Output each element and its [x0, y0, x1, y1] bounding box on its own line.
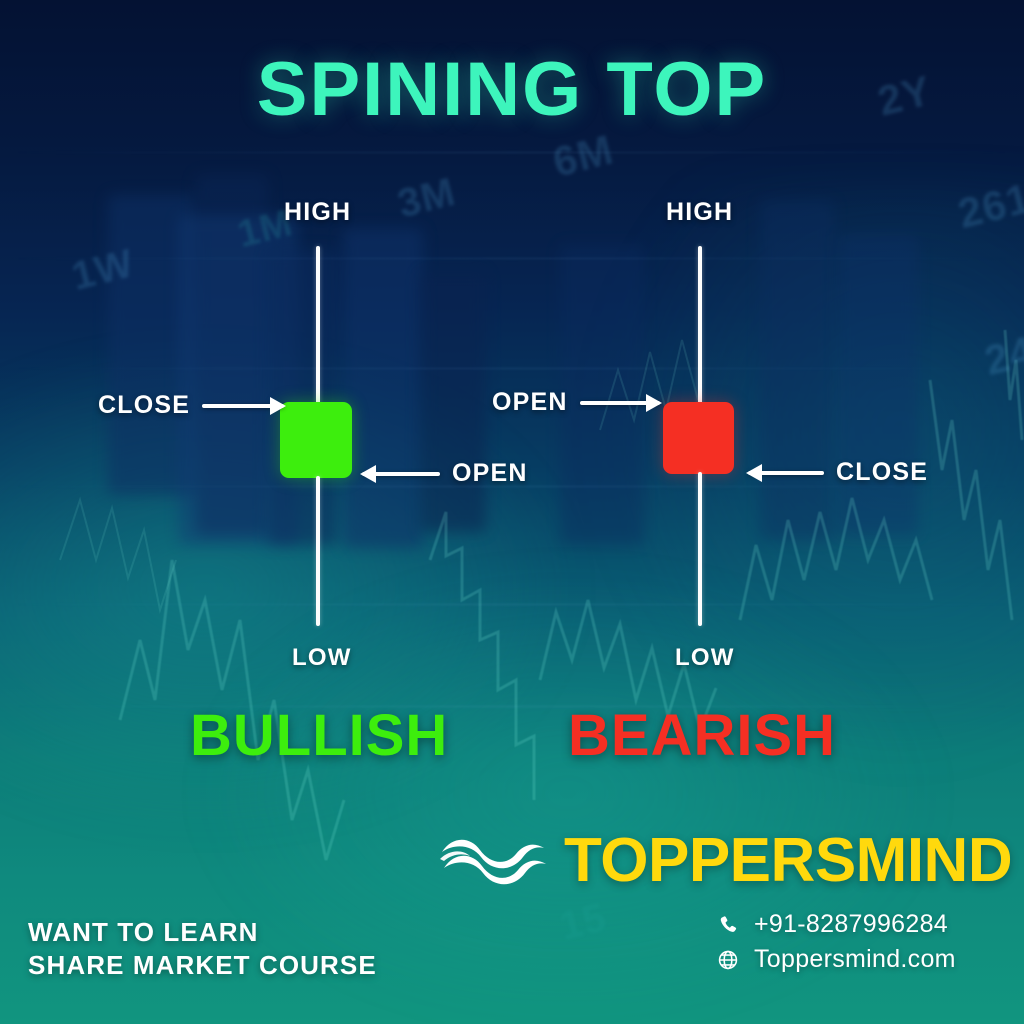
arrow-left-icon — [748, 471, 824, 475]
infographic-canvas: 1W 1M 3M 6M 2Y 261 24 15 SPINING TOP HIG… — [0, 0, 1024, 1024]
contact-phone-value: +91-8287996284 — [754, 910, 948, 939]
bearish-verdict: BEARISH — [568, 702, 836, 769]
wave-swirl-logo-icon — [440, 828, 548, 894]
bearish-close-label: CLOSE — [836, 458, 928, 487]
contact-phone-row[interactable]: +91-8287996284 — [716, 910, 956, 939]
bearish-low-label: LOW — [675, 644, 735, 672]
phone-icon — [716, 913, 740, 937]
brand-lockup: TOPPERSMIND — [440, 828, 1012, 894]
cta-line-1: WANT TO LEARN — [28, 916, 377, 949]
bearish-candle-body — [663, 402, 734, 474]
bearish-high-label: HIGH — [666, 198, 733, 227]
brand-name: TOPPERSMIND — [564, 830, 1012, 892]
globe-icon — [716, 948, 740, 972]
cta-text: WANT TO LEARN SHARE MARKET COURSE — [28, 916, 377, 983]
bearish-lower-wick — [698, 472, 702, 626]
cta-line-2: SHARE MARKET COURSE — [28, 949, 377, 982]
bearish-upper-wick — [698, 246, 702, 404]
arrow-right-icon — [580, 401, 660, 405]
contact-website-row[interactable]: Toppersmind.com — [716, 945, 956, 974]
bearish-open-label: OPEN — [492, 388, 568, 417]
bearish-open-annotation: OPEN — [492, 388, 660, 417]
contact-website-value: Toppersmind.com — [754, 945, 956, 974]
contact-block: +91-8287996284 Toppersmind.com — [716, 910, 956, 974]
bearish-close-annotation: CLOSE — [748, 458, 928, 487]
